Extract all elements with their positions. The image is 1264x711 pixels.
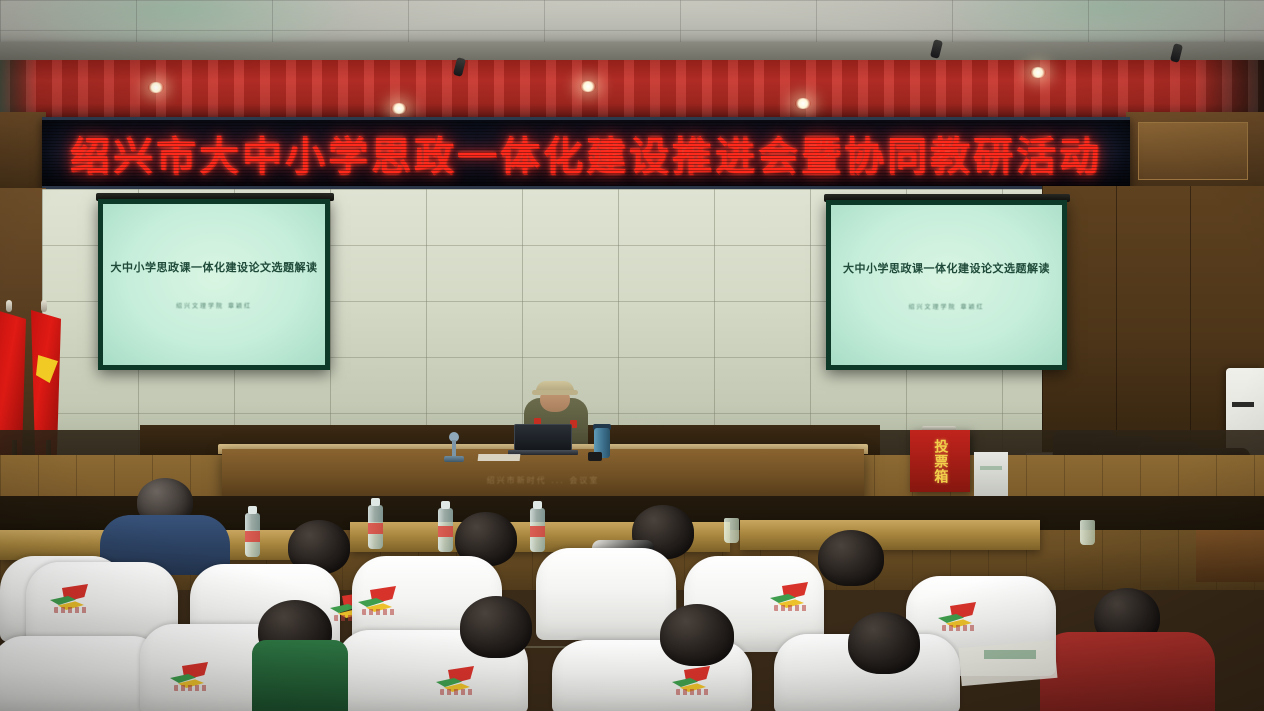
- podium-engraved-label: 绍兴市新时代 ... 会议室: [222, 475, 864, 486]
- logo-wordmark: [362, 609, 396, 615]
- red-valance-banner: [0, 60, 1264, 118]
- side-table-right: [1196, 530, 1264, 582]
- logo-wordmark: [174, 685, 208, 691]
- led-banner-display: 绍兴市大中小学思政一体化建设推进会暨协同教研活动: [42, 117, 1130, 189]
- chair-cover-logo: [938, 602, 978, 632]
- slide-title-left: 大中小学思政课一体化建设论文选题解读: [111, 259, 318, 275]
- projection-screen-left: 大中小学思政课一体化建设论文选题解读 绍兴文理学院 章颖红: [98, 199, 330, 370]
- conference-hall-scene: 绍兴市大中小学思政一体化建设推进会暨协同教研活动 大中小学思政课一体化建设论文选…: [0, 0, 1264, 711]
- drinking-glass: [1080, 520, 1095, 545]
- ceiling-spotlight: [795, 98, 811, 109]
- projection-screen-right-surface: 大中小学思政课一体化建设论文选题解读 绍兴文理学院 章颖红: [831, 205, 1062, 365]
- banner-frame-left: [0, 112, 46, 194]
- logo-wordmark: [676, 689, 710, 695]
- handout-marking: [984, 650, 1036, 659]
- ceiling-spotlight: [1030, 67, 1046, 78]
- water-bottle: [368, 505, 383, 549]
- led-banner-text: 绍兴市大中小学思政一体化建设推进会暨协同教研活动: [70, 124, 1102, 182]
- banner-frame-right: [1126, 112, 1264, 194]
- water-bottle: [530, 508, 545, 552]
- desk-papers: [478, 454, 521, 461]
- ballot-box: 投票箱: [910, 430, 970, 492]
- water-bottle: [245, 513, 260, 557]
- chair-cover-logo: [50, 584, 90, 614]
- audience-head: [460, 596, 532, 658]
- ballot-box-label: 投票箱: [933, 439, 948, 484]
- laptop-screen[interactable]: [514, 424, 572, 451]
- ceiling-spotlight: [580, 81, 596, 92]
- audience-head: [848, 612, 920, 674]
- speaker-cap: [536, 381, 574, 395]
- pedestal-label-strip: [980, 466, 1002, 470]
- white-pedestal: [974, 452, 1008, 496]
- ceiling-spotlight: [148, 82, 164, 93]
- projection-screen-left-surface: 大中小学思政课一体化建设论文选题解读 绍兴文理学院 章颖红: [103, 204, 325, 365]
- valance-shadow-right: [1194, 60, 1264, 118]
- slide-subtitle-left: 绍兴文理学院 章颖红: [176, 301, 252, 310]
- chair-cover-logo: [436, 666, 476, 696]
- flag-pole-finial: [6, 300, 12, 312]
- audience-shoulders: [1040, 632, 1215, 711]
- microphone-base: [444, 456, 464, 462]
- valance-shadow-left: [0, 60, 38, 118]
- logo-wordmark: [942, 625, 976, 631]
- logo-wordmark: [54, 607, 88, 613]
- slide-subtitle-right: 绍兴文理学院 章颖红: [909, 302, 985, 311]
- ac-vent: [1232, 402, 1254, 407]
- drinking-glass: [724, 518, 739, 543]
- logo-wordmark: [774, 605, 808, 611]
- wall-panel-right: [1138, 122, 1248, 180]
- audience-table: [740, 520, 1040, 550]
- audience-head: [660, 604, 734, 666]
- chair-cover-logo: [170, 662, 210, 692]
- slide-title-right: 大中小学思政课一体化建设论文选题解读: [843, 260, 1050, 276]
- chair-cover-logo: [358, 586, 398, 616]
- audience-shoulders: [252, 640, 348, 711]
- flag-pole-finial: [41, 300, 47, 312]
- logo-wordmark: [440, 689, 474, 695]
- chair-cover-logo: [672, 666, 712, 696]
- audience-head: [818, 530, 884, 586]
- chair-cover-logo: [770, 582, 810, 612]
- desk-small-device: [588, 452, 602, 461]
- ceiling-spotlight: [391, 103, 407, 114]
- projection-screen-right: 大中小学思政课一体化建设论文选题解读 绍兴文理学院 章颖红: [826, 200, 1067, 370]
- water-bottle: [438, 508, 453, 552]
- chair-cover: [536, 548, 676, 640]
